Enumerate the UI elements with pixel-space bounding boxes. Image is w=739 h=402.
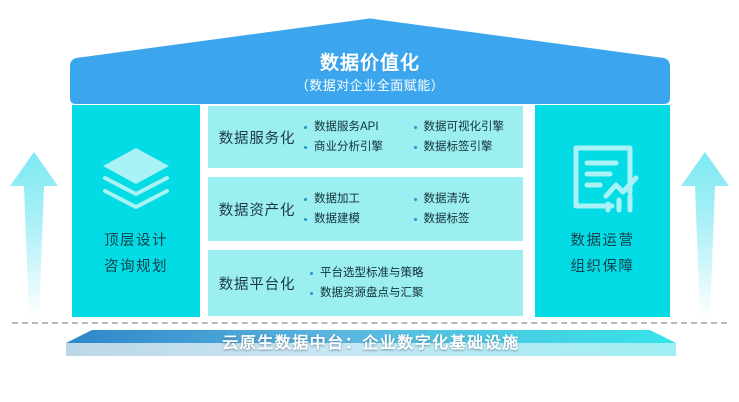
list-item: 商业分析引擎 xyxy=(304,137,414,157)
list-item-label: 数据建模 xyxy=(314,209,360,229)
row-title: 数据服务化 xyxy=(208,127,300,148)
list-item-label: 数据服务API xyxy=(314,117,379,137)
list-item: 数据资源盘点与汇聚 xyxy=(304,283,523,303)
bullet-dot xyxy=(414,146,417,149)
list-item-label: 数据清洗 xyxy=(424,189,470,209)
row-items: 数据加工 数据清洗 数据建模 数据标签 xyxy=(300,189,523,229)
list-item: 数据建模 xyxy=(304,209,414,229)
bullet-dot xyxy=(304,146,307,149)
list-item-label: 数据加工 xyxy=(314,189,360,209)
bullet-dot xyxy=(304,126,307,129)
list-item: 数据清洗 xyxy=(414,189,524,209)
bullet-dot xyxy=(304,218,307,221)
right-growth-arrow xyxy=(677,150,733,320)
up-arrow-icon xyxy=(677,150,733,320)
bullet-dot xyxy=(310,272,313,275)
document-chart-icon xyxy=(566,142,640,214)
right-pillar[interactable]: 数据运营 组织保障 xyxy=(535,105,670,317)
list-item-label: 数据资源盘点与汇聚 xyxy=(320,283,424,303)
row-items: 平台选型标准与策略 数据资源盘点与汇聚 xyxy=(300,263,523,303)
right-pillar-line2: 组织保障 xyxy=(571,254,635,280)
foundation-slab xyxy=(66,330,676,366)
layer-row-data-service[interactable]: 数据服务化 数据服务API 数据可视化引擎 商业分析引擎 数据标签引擎 xyxy=(208,106,523,168)
list-item: 数据可视化引擎 xyxy=(414,117,524,137)
layers-icon xyxy=(99,142,173,214)
bullet-dot xyxy=(310,292,313,295)
roof-banner: 数据价值化 （数据对企业全面赋能） xyxy=(70,18,670,104)
bullet-dot xyxy=(304,198,307,201)
right-pillar-line1: 数据运营 xyxy=(571,228,635,254)
left-pillar[interactable]: 顶层设计 咨询规划 xyxy=(72,105,200,317)
layer-row-data-platform[interactable]: 数据平台化 平台选型标准与策略 数据资源盘点与汇聚 xyxy=(208,250,523,316)
row-title: 数据资产化 xyxy=(208,199,300,220)
list-item: 数据加工 xyxy=(304,189,414,209)
list-item-label: 数据可视化引擎 xyxy=(424,117,505,137)
list-item-label: 商业分析引擎 xyxy=(314,137,383,157)
list-item: 数据服务API xyxy=(304,117,414,137)
diagram-canvas: 数据价值化 （数据对企业全面赋能） 顶层设计 咨询规划 xyxy=(0,0,739,402)
roof-title: 数据价值化 xyxy=(320,52,420,76)
roof-subtitle: （数据对企业全面赋能） xyxy=(296,76,445,96)
list-item: 平台选型标准与策略 xyxy=(304,263,523,283)
list-item-label: 平台选型标准与策略 xyxy=(320,263,424,283)
left-pillar-line2: 咨询规划 xyxy=(104,254,168,280)
row-title: 数据平台化 xyxy=(208,273,300,294)
layer-row-data-asset[interactable]: 数据资产化 数据加工 数据清洗 数据建模 数据标签 xyxy=(208,177,523,241)
list-item: 数据标签 xyxy=(414,209,524,229)
left-pillar-line1: 顶层设计 xyxy=(104,228,168,254)
left-growth-arrow xyxy=(6,150,62,320)
up-arrow-icon xyxy=(6,150,62,320)
list-item-label: 数据标签 xyxy=(424,209,470,229)
bullet-dot xyxy=(414,218,417,221)
bullet-dot xyxy=(414,198,417,201)
list-item-label: 数据标签引擎 xyxy=(424,137,493,157)
bullet-dot xyxy=(414,126,417,129)
ground-dashed-line xyxy=(12,322,727,324)
list-item: 数据标签引擎 xyxy=(414,137,524,157)
row-items: 数据服务API 数据可视化引擎 商业分析引擎 数据标签引擎 xyxy=(300,117,523,157)
